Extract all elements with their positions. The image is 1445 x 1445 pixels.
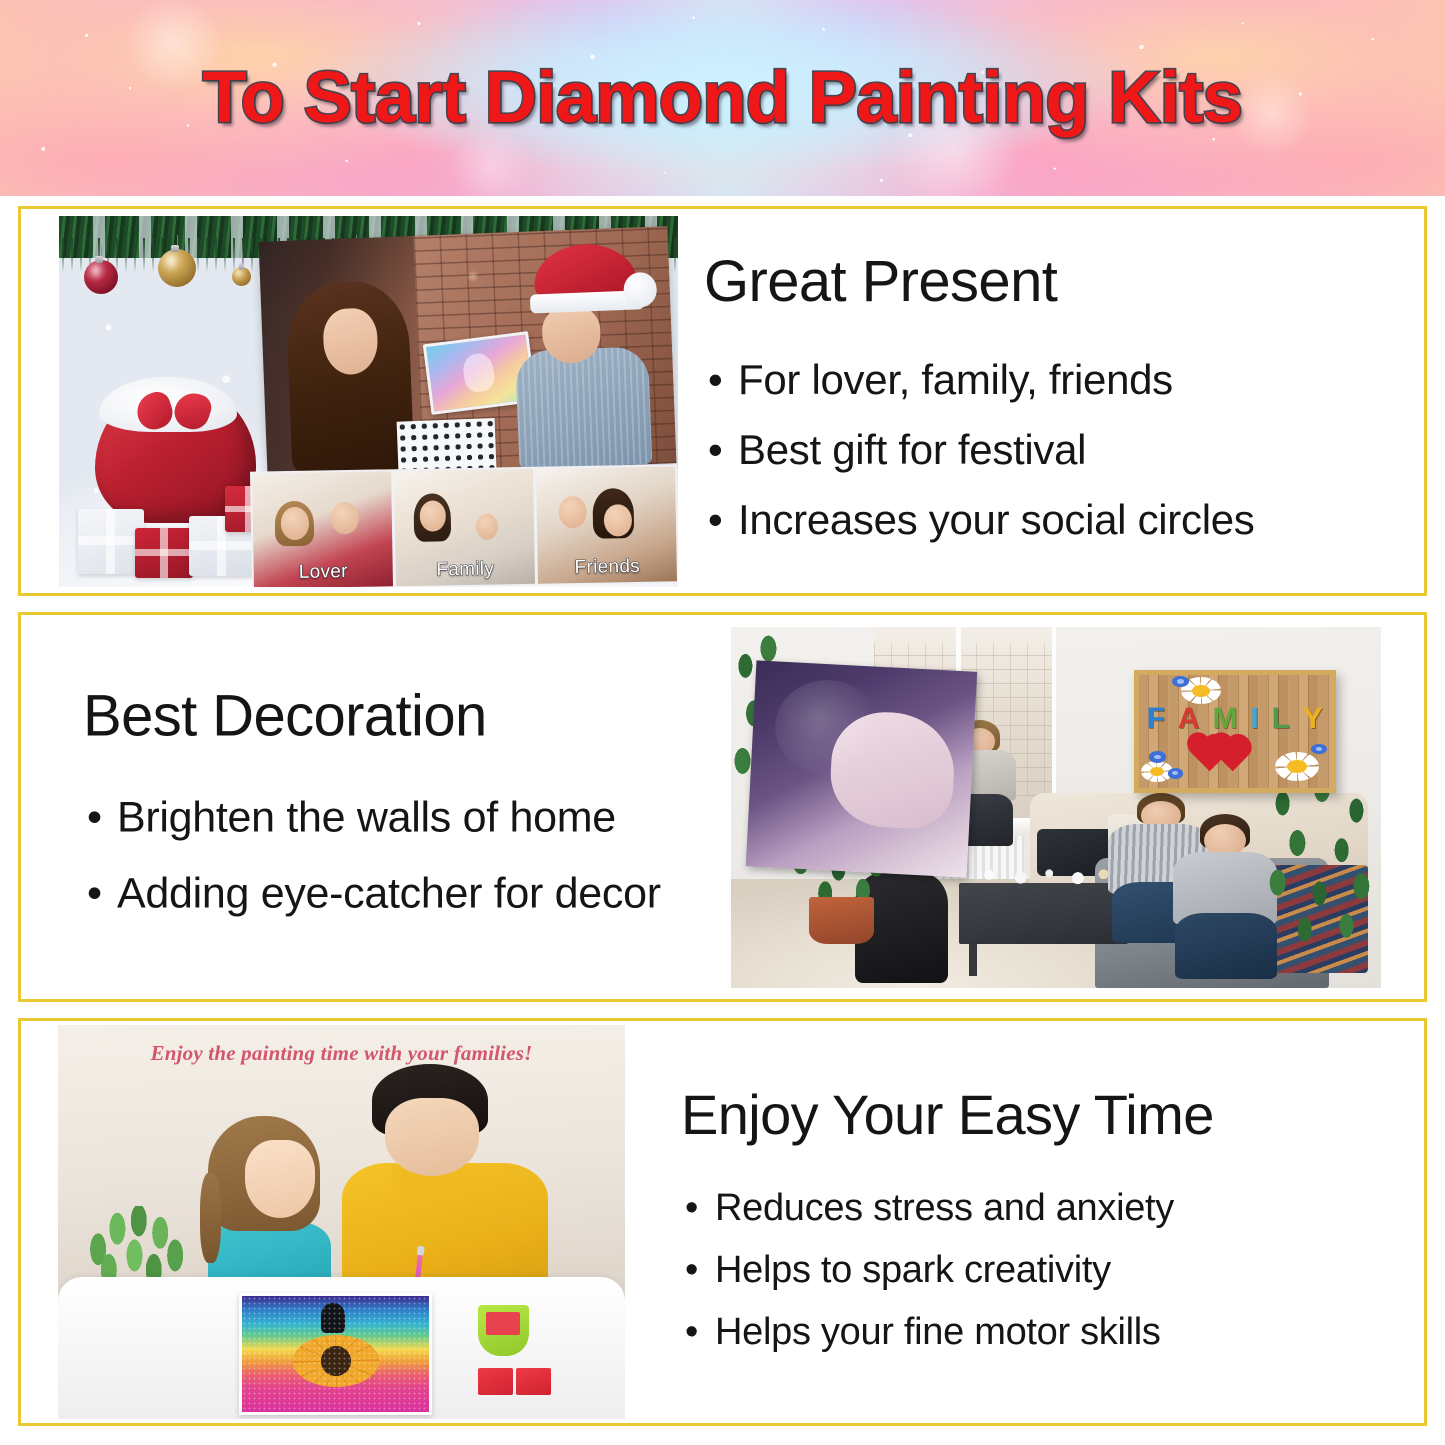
bullet-item: Brighten the walls of home [83, 780, 695, 856]
family-head-mother [419, 500, 446, 531]
triptych-cell-family: Family [394, 469, 535, 586]
blue-flower-3 [1168, 768, 1183, 778]
bullet-item: For lover, family, friends [704, 345, 1398, 415]
daisy-flower-bottom [1275, 752, 1319, 781]
blue-flower-1 [1172, 676, 1189, 687]
panel-great-present: Lover Family Friends Great Present [18, 206, 1427, 596]
ornament-red-1 [84, 260, 118, 294]
family-head-child [475, 513, 498, 540]
family-wall-artwork: F A M I L Y [1134, 670, 1336, 793]
family-letter-y: Y [1303, 704, 1323, 734]
heart-icon-right [1215, 737, 1249, 771]
panel-title-enjoy-your-easy-time: Enjoy Your Easy Time [681, 1082, 1398, 1147]
potted-plant-right [1258, 771, 1382, 952]
family-letter-l: L [1272, 704, 1290, 734]
triptych-cell-friends: Friends [536, 466, 677, 583]
header-banner: To Start Diamond Painting Kits [0, 0, 1445, 196]
friends-head-2 [603, 504, 631, 537]
family-artwork-hearts [1196, 741, 1246, 775]
bullet-item: Best gift for festival [704, 415, 1398, 485]
blue-flower-4 [1311, 744, 1326, 754]
woman-right-sweater [515, 347, 653, 470]
gift-box-white-1 [78, 509, 145, 573]
living-room-decor-image: F A M I L Y [731, 627, 1381, 988]
lover-head-1 [280, 507, 308, 540]
christmas-gift-collage-image: Lover Family Friends [59, 216, 678, 587]
triptych-label-family: Family [395, 558, 534, 582]
sunflower-diamond-painting [239, 1293, 432, 1415]
triptych-label-friends: Friends [537, 555, 676, 579]
daughter-face [245, 1140, 315, 1218]
panel-enjoy-your-easy-time: Enjoy the painting time with your famili… [18, 1018, 1427, 1426]
blue-flower-2 [1149, 751, 1166, 762]
family-letter-a: A [1178, 704, 1200, 734]
red-bead-trays [478, 1368, 552, 1396]
daughter-braid [200, 1173, 221, 1263]
panel-great-present-bullets: For lover, family, friends Best gift for… [704, 345, 1398, 555]
father-daughter-painting-image: Enjoy the painting time with your famili… [58, 1025, 625, 1419]
father-face [385, 1098, 480, 1176]
panel-enjoy-your-easy-time-text: Enjoy Your Easy Time Reduces stress and … [625, 1082, 1424, 1363]
bullet-item: Helps to spark creativity [681, 1239, 1398, 1301]
panel-enjoy-bullets: Reduces stress and anxiety Helps to spar… [681, 1177, 1398, 1363]
woman-in-santa-hat [509, 246, 656, 470]
panel-best-decoration-text: Best Decoration Brighten the walls of ho… [21, 683, 721, 932]
triptych-photo-strip: Lover Family Friends [250, 464, 678, 586]
ornament-gold-1 [158, 249, 196, 287]
family-letter-i: I [1250, 704, 1258, 734]
panel-best-decoration-bullets: Brighten the walls of home Adding eye-ca… [83, 780, 695, 932]
page-title: To Start Diamond Painting Kits [0, 57, 1445, 139]
diamond-bead-texture [242, 1296, 429, 1412]
bullet-item: Helps your fine motor skills [681, 1301, 1398, 1363]
infographic-page: To Start Diamond Painting Kits [0, 0, 1445, 1445]
green-wax-tray [478, 1305, 529, 1356]
bullet-item: Reduces stress and anxiety [681, 1177, 1398, 1239]
family-letter-m: M [1212, 704, 1237, 734]
bullet-item: Adding eye-catcher for decor [83, 856, 695, 932]
panel-title-best-decoration: Best Decoration [83, 683, 695, 750]
panel-best-decoration: Best Decoration Brighten the walls of ho… [18, 612, 1427, 1002]
panel-title-great-present: Great Present [704, 248, 1398, 315]
triptych-label-lover: Lover [253, 560, 392, 584]
image-caption-enjoy-painting: Enjoy the painting time with your famili… [58, 1041, 625, 1066]
terracotta-pot [809, 897, 874, 944]
lover-head-2 [330, 501, 358, 534]
cups-and-snacks [972, 858, 1115, 887]
family-letter-f: F [1147, 704, 1165, 734]
bullet-item: Increases your social circles [704, 485, 1398, 555]
red-tray-1 [478, 1368, 513, 1396]
woman-receiving-gift [285, 279, 415, 478]
gift-ribbon-bow [137, 393, 211, 429]
triptych-cell-lover: Lover [252, 471, 393, 586]
red-tray-2 [516, 1368, 551, 1396]
gift-box-red-1 [135, 528, 193, 579]
panel-great-present-text: Great Present For lover, family, friends… [678, 248, 1424, 555]
friends-head-1 [559, 495, 587, 528]
hero-photo-gift-exchange [259, 226, 676, 479]
coffee-table [959, 883, 1128, 944]
hand-placing-diamonds-overlay [745, 661, 976, 878]
